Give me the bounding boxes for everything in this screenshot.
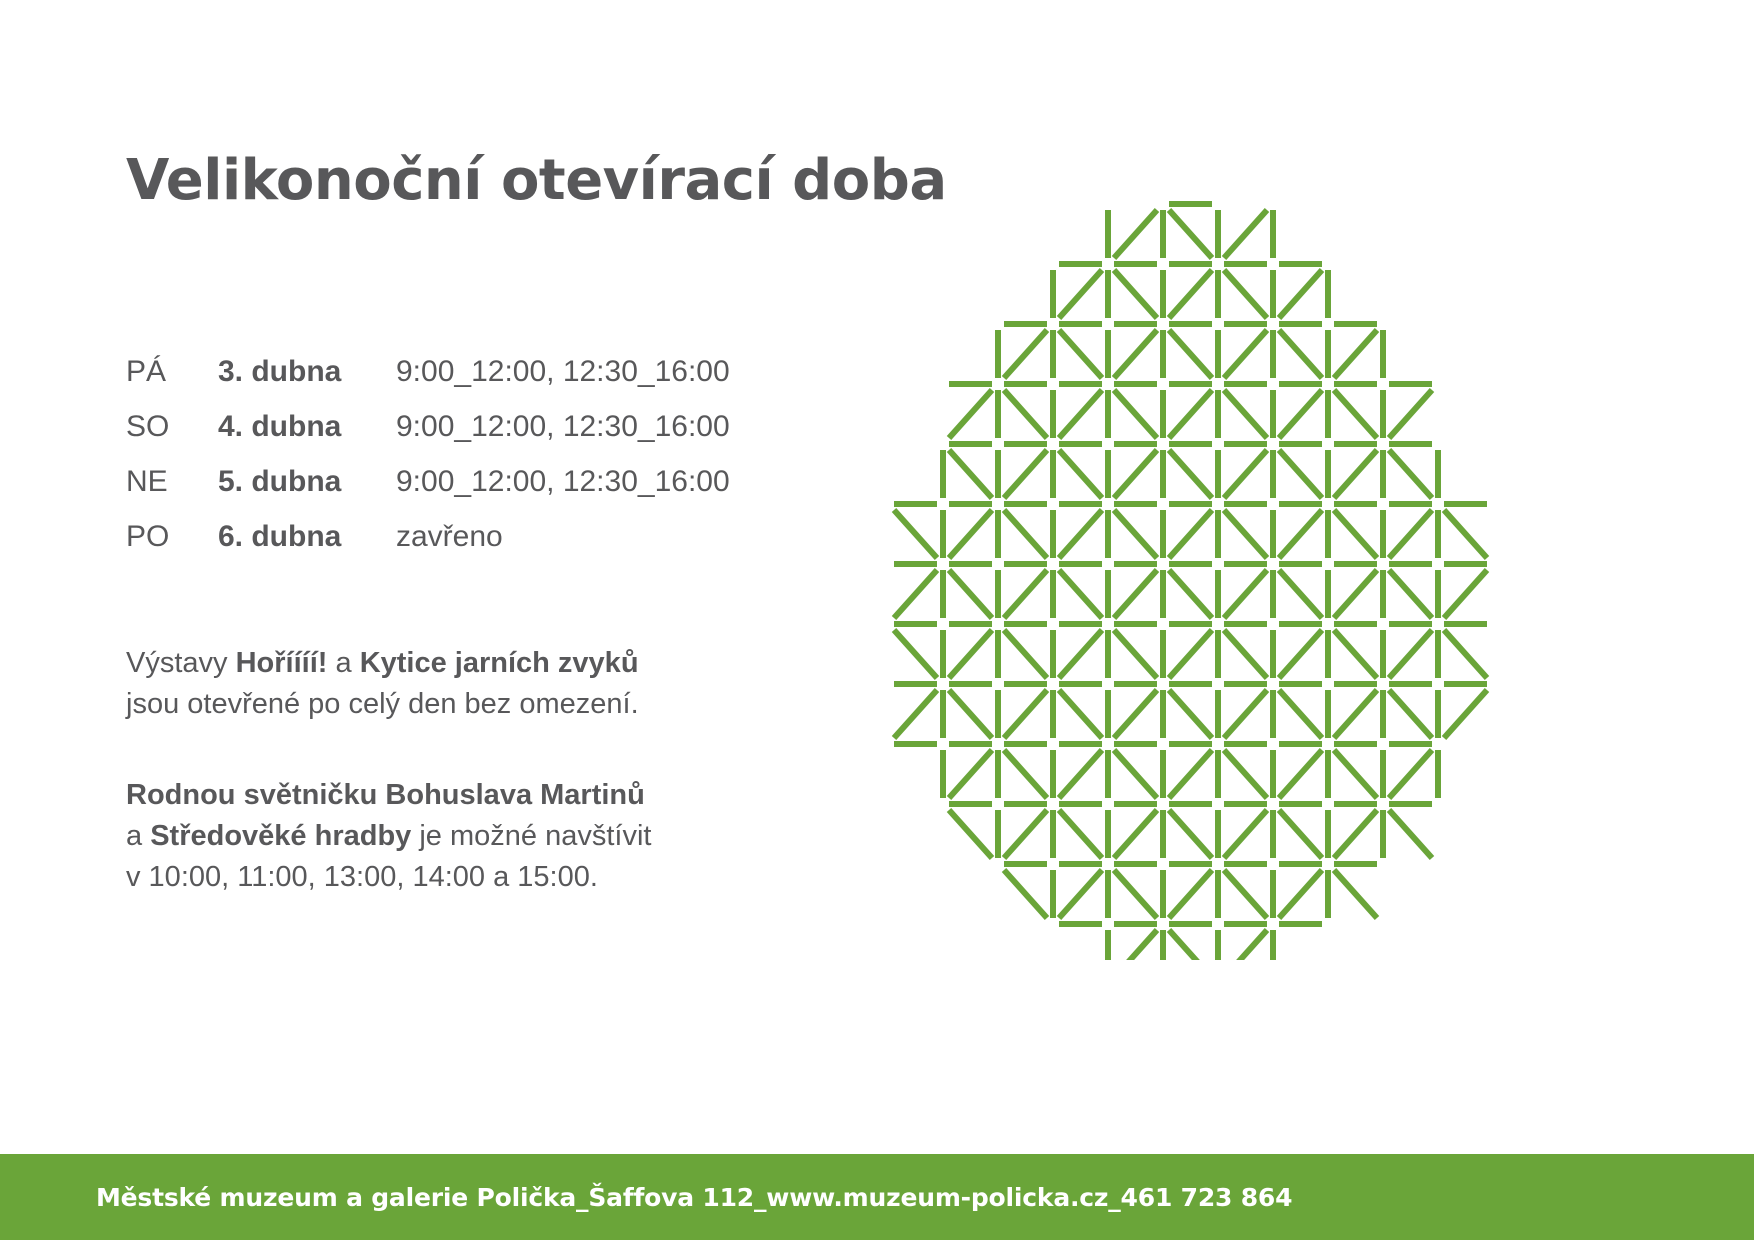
exhibitions-prefix: Výstavy xyxy=(126,647,236,679)
schedule-day: PÁ xyxy=(126,357,218,412)
visit-place-hradby: Středověké hradby xyxy=(150,820,411,852)
table-row: PÁ 3. dubna 9:00_12:00, 12:30_16:00 xyxy=(126,357,730,412)
schedule-day: NE xyxy=(126,467,218,522)
exhibition-name-kytice: Kytice jarních zvyků xyxy=(360,647,639,679)
table-row: NE 5. dubna 9:00_12:00, 12:30_16:00 xyxy=(126,467,730,522)
schedule-date: 6. dubna xyxy=(218,522,396,577)
table-row: PO 6. dubna zavřeno xyxy=(126,522,730,577)
schedule-date: 5. dubna xyxy=(218,467,396,522)
exhibitions-conjunction: a xyxy=(327,647,359,679)
footer-bar: Městské muzeum a galerie Polička_Šaffova… xyxy=(0,1154,1754,1240)
schedule-day: SO xyxy=(126,412,218,467)
schedule-body: PÁ 3. dubna 9:00_12:00, 12:30_16:00 SO 4… xyxy=(126,357,730,577)
text-content: Velikonoční otevírací doba PÁ 3. dubna 9… xyxy=(126,150,886,898)
opening-hours-table: PÁ 3. dubna 9:00_12:00, 12:30_16:00 SO 4… xyxy=(126,357,730,577)
visits-line2-prefix: a xyxy=(126,820,150,852)
schedule-hours: zavřeno xyxy=(396,522,730,577)
schedule-date: 4. dubna xyxy=(218,412,396,467)
exhibitions-paragraph: Výstavy Hoříííí! a Kytice jarních zvyků … xyxy=(126,643,886,725)
visits-line2-suffix: je možné navštívit xyxy=(411,820,651,852)
exhibitions-line2: jsou otevřené po celý den bez omezení. xyxy=(126,688,639,720)
poster-canvas: Velikonoční otevírací doba PÁ 3. dubna 9… xyxy=(0,0,1754,1240)
table-row: SO 4. dubna 9:00_12:00, 12:30_16:00 xyxy=(126,412,730,467)
visit-place-svetnicka: Rodnou světničku Bohuslava Martinů xyxy=(126,779,645,811)
schedule-date: 3. dubna xyxy=(218,357,396,412)
visits-times: v 10:00, 11:00, 13:00, 14:00 a 15:00. xyxy=(126,861,598,893)
exhibition-name-horicici: Hoříííí! xyxy=(236,647,328,679)
easter-egg-illustration xyxy=(880,140,1500,960)
schedule-hours: 9:00_12:00, 12:30_16:00 xyxy=(396,357,730,412)
easter-egg-pattern-icon xyxy=(880,140,1500,960)
page-title: Velikonoční otevírací doba xyxy=(126,150,886,212)
schedule-day: PO xyxy=(126,522,218,577)
schedule-hours: 9:00_12:00, 12:30_16:00 xyxy=(396,412,730,467)
schedule-hours: 9:00_12:00, 12:30_16:00 xyxy=(396,467,730,522)
visits-paragraph: Rodnou světničku Bohuslava Martinů a Stř… xyxy=(126,775,886,899)
footer-contact-text: Městské muzeum a galerie Polička_Šaffova… xyxy=(96,1183,1292,1212)
